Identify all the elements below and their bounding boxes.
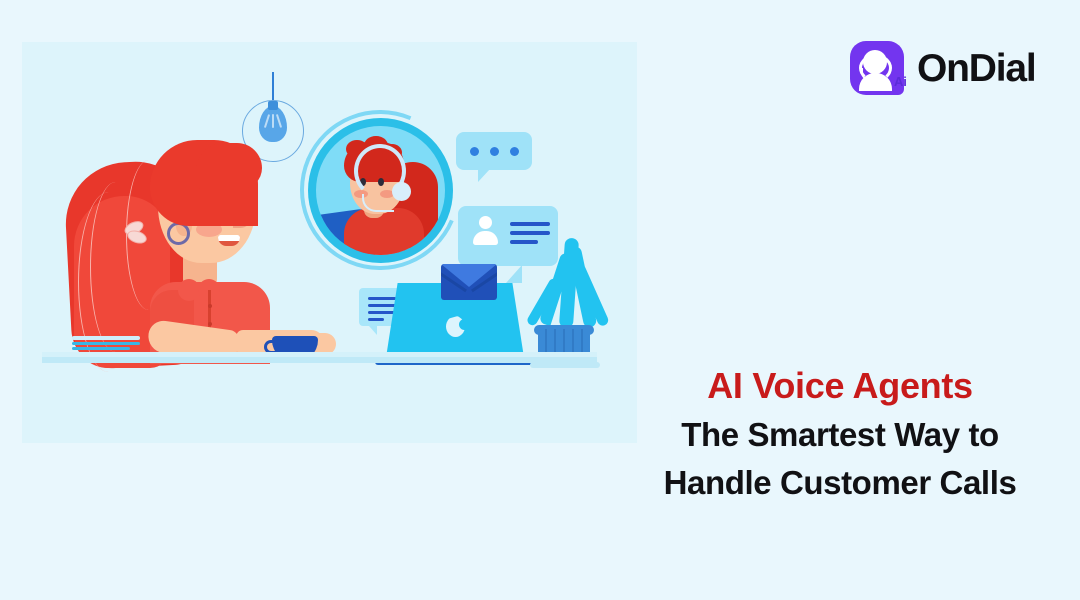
headset-speech-bubble-icon: Ai <box>850 41 904 95</box>
headline-accent-line: AI Voice Agents <box>640 363 1040 409</box>
logo-ai-badge: Ai <box>894 74 907 89</box>
brand-logo[interactable]: Ai OnDial <box>850 41 1035 95</box>
desk-edge <box>42 352 597 357</box>
illustration-panel <box>22 42 637 443</box>
headline-subline-1: The Smartest Way to <box>640 413 1040 457</box>
headline-block: AI Voice Agents The Smartest Way to Hand… <box>640 363 1040 505</box>
promo-banner: Ai OnDial AI Voice Agents The Smartest W… <box>0 0 1080 600</box>
envelope-icon <box>441 264 497 300</box>
logo-wordmark: OnDial <box>917 49 1035 88</box>
headline-subline-2: Handle Customer Calls <box>640 461 1040 505</box>
